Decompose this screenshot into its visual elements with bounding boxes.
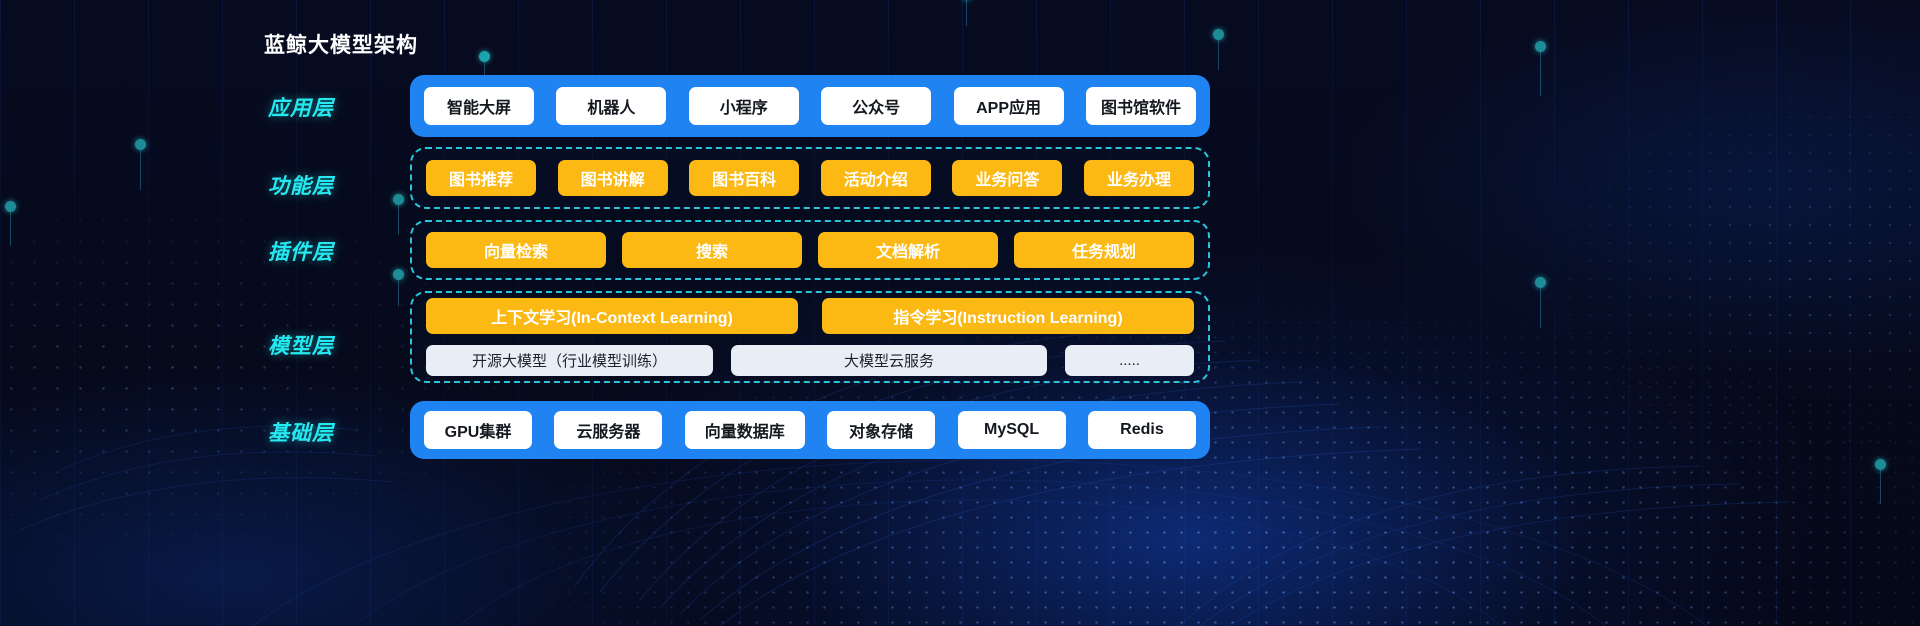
chip-application-5[interactable]: 图书馆软件: [1086, 87, 1196, 125]
chip-application-1[interactable]: 机器人: [556, 87, 666, 125]
chip-plugin-0[interactable]: 向量检索: [426, 232, 606, 268]
chip-plugin-3[interactable]: 任务规划: [1014, 232, 1194, 268]
layer-label-infrastructure: 基础层: [214, 417, 334, 447]
chip-infrastructure-5[interactable]: Redis: [1088, 411, 1196, 449]
decor-pin-marker: [1540, 288, 1541, 328]
decor-pin-marker: [398, 205, 399, 235]
decor-pin-marker: [1218, 40, 1219, 70]
chip-application-2[interactable]: 小程序: [689, 87, 799, 125]
chip-function-3[interactable]: 活动介绍: [821, 160, 931, 196]
model-row-learning: 上下文学习(In-Context Learning) 指令学习(Instruct…: [426, 298, 1194, 334]
decor-pin-marker: [966, 0, 967, 26]
chip-infrastructure-4[interactable]: MySQL: [958, 411, 1066, 449]
chip-function-5[interactable]: 业务办理: [1084, 160, 1194, 196]
chip-function-0[interactable]: 图书推荐: [426, 160, 536, 196]
chip-model-more[interactable]: .....: [1065, 345, 1194, 376]
layer-label-model: 模型层: [214, 330, 334, 360]
chip-application-3[interactable]: 公众号: [821, 87, 931, 125]
layer-band-model: 上下文学习(In-Context Learning) 指令学习(Instruct…: [410, 291, 1210, 383]
chip-model-instruction[interactable]: 指令学习(Instruction Learning): [822, 298, 1194, 334]
layer-band-infrastructure: GPU集群 云服务器 向量数据库 对象存储 MySQL Redis: [410, 401, 1210, 459]
page-title: 蓝鲸大模型架构: [264, 29, 418, 59]
layer-label-application: 应用层: [214, 92, 334, 122]
layer-band-plugin: 向量检索 搜索 文档解析 任务规划: [410, 220, 1210, 280]
chip-application-4[interactable]: APP应用: [954, 87, 1064, 125]
chip-application-0[interactable]: 智能大屏: [424, 87, 534, 125]
layer-band-function: 图书推荐 图书讲解 图书百科 活动介绍 业务问答 业务办理: [410, 147, 1210, 209]
chip-model-opensource[interactable]: 开源大模型（行业模型训练）: [426, 345, 713, 376]
layer-label-plugin: 插件层: [214, 236, 334, 266]
chip-infrastructure-3[interactable]: 对象存储: [827, 411, 935, 449]
chip-plugin-2[interactable]: 文档解析: [818, 232, 998, 268]
chip-plugin-1[interactable]: 搜索: [622, 232, 802, 268]
layer-band-application: 智能大屏 机器人 小程序 公众号 APP应用 图书馆软件: [410, 75, 1210, 137]
decor-pin-marker: [398, 280, 399, 306]
chip-infrastructure-1[interactable]: 云服务器: [554, 411, 662, 449]
model-row-base: 开源大模型（行业模型训练） 大模型云服务 .....: [426, 345, 1194, 376]
chip-infrastructure-0[interactable]: GPU集群: [424, 411, 532, 449]
chip-function-2[interactable]: 图书百科: [689, 160, 799, 196]
decor-pin-marker: [10, 212, 11, 246]
chip-model-cloud[interactable]: 大模型云服务: [731, 345, 1047, 376]
chip-function-4[interactable]: 业务问答: [952, 160, 1062, 196]
decor-pin-marker: [140, 150, 141, 190]
decor-pin-marker: [1880, 470, 1881, 504]
layer-label-function: 功能层: [214, 170, 334, 200]
chip-infrastructure-2[interactable]: 向量数据库: [685, 411, 805, 449]
chip-model-incontext[interactable]: 上下文学习(In-Context Learning): [426, 298, 798, 334]
chip-function-1[interactable]: 图书讲解: [558, 160, 668, 196]
architecture-diagram-canvas: 蓝鲸大模型架构 应用层 智能大屏 机器人 小程序 公众号 APP应用 图书馆软件…: [0, 0, 1920, 626]
decor-pin-marker: [1540, 52, 1541, 96]
